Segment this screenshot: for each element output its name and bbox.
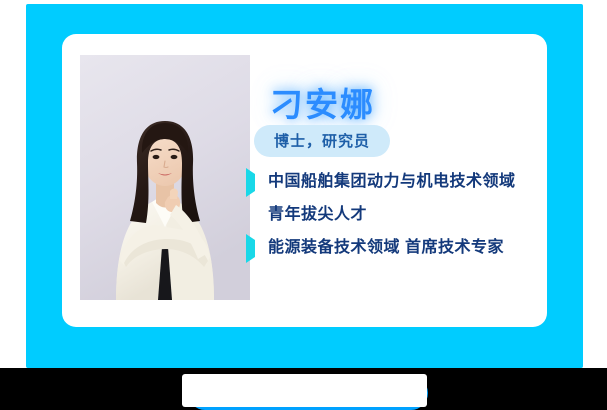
- profile-card-screenshot: 刁安娜 博士，研究员 中国船舶集团动力与机电技术领域 青年拔尖人才 能源装备技术…: [0, 0, 607, 410]
- portrait-illustration: [80, 55, 250, 300]
- credential-line: 能源装备技术领域 首席技术专家: [268, 233, 504, 262]
- credential-line: 青年拔尖人才: [268, 200, 367, 229]
- list-item: 能源装备技术领域 首席技术专家: [246, 233, 546, 262]
- profile-name: 刁安娜: [270, 78, 375, 126]
- credential-line: 中国船舶集团动力与机电技术领域: [268, 167, 516, 196]
- credentials-list: 中国船舶集团动力与机电技术领域 青年拔尖人才 能源装备技术领域 首席技术专家: [246, 167, 546, 266]
- triangle-right-icon: [246, 174, 262, 192]
- triangle-right-icon: [246, 240, 262, 258]
- bullet-spacer: [246, 207, 262, 225]
- list-item: 中国船舶集团动力与机电技术领域: [246, 167, 546, 196]
- portrait-photo: [80, 55, 250, 300]
- bottom-white-overlay: [182, 374, 427, 407]
- list-item-continuation: 青年拔尖人才: [246, 200, 546, 229]
- title-badge: 博士，研究员: [254, 125, 390, 157]
